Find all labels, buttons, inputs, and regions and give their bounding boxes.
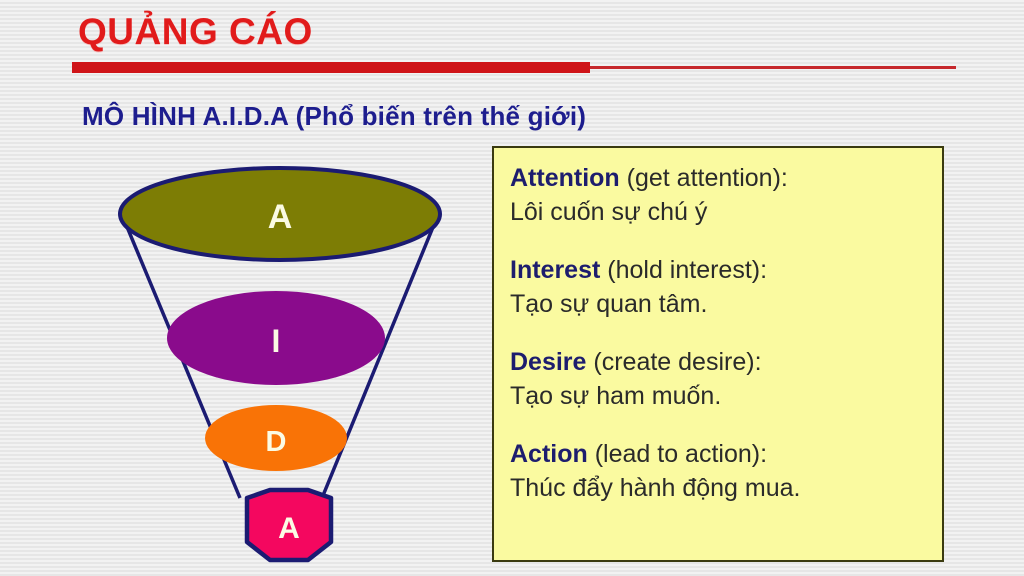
aida-term-desire: Desire bbox=[510, 348, 586, 376]
funnel-stage-attention-letter: A bbox=[268, 198, 293, 236]
aida-term-interest: Interest bbox=[510, 256, 600, 284]
aida-item-desire: Desire (create desire): Tạo sự ham muốn. bbox=[510, 346, 942, 412]
page-subtitle: MÔ HÌNH A.I.D.A (Phổ biến trên thế giới) bbox=[82, 101, 586, 132]
aida-funnel-diagram: A I D A bbox=[100, 160, 460, 576]
aida-english-attention: (get attention): bbox=[620, 164, 788, 192]
aida-item-action: Action (lead to action): Thúc đẩy hành đ… bbox=[510, 438, 942, 504]
aida-item-interest: Interest (hold interest): Tạo sự quan tâ… bbox=[510, 254, 942, 320]
aida-item-attention: Attention (get attention): Lôi cuốn sự c… bbox=[510, 162, 942, 228]
slide-canvas: QUẢNG CÁO MÔ HÌNH A.I.D.A (Phổ biến trên… bbox=[0, 0, 1024, 576]
funnel-stage-desire-letter: D bbox=[266, 426, 287, 458]
aida-english-desire: (create desire): bbox=[586, 348, 761, 376]
aida-description-box: Attention (get attention): Lôi cuốn sự c… bbox=[492, 146, 944, 562]
funnel-stage-interest-letter: I bbox=[272, 323, 281, 359]
title-underline-thick bbox=[72, 62, 590, 73]
aida-vietnamese-desire: Tạo sự ham muốn. bbox=[510, 380, 942, 412]
aida-term-action: Action bbox=[510, 440, 588, 468]
aida-english-interest: (hold interest): bbox=[600, 256, 767, 284]
aida-vietnamese-attention: Lôi cuốn sự chú ý bbox=[510, 196, 942, 228]
aida-english-action: (lead to action): bbox=[588, 440, 767, 468]
aida-vietnamese-interest: Tạo sự quan tâm. bbox=[510, 288, 942, 320]
page-title: QUẢNG CÁO bbox=[78, 10, 313, 54]
funnel-stage-action-letter: A bbox=[278, 512, 300, 545]
aida-vietnamese-action: Thúc đẩy hành động mua. bbox=[510, 472, 942, 504]
aida-term-attention: Attention bbox=[510, 164, 620, 192]
